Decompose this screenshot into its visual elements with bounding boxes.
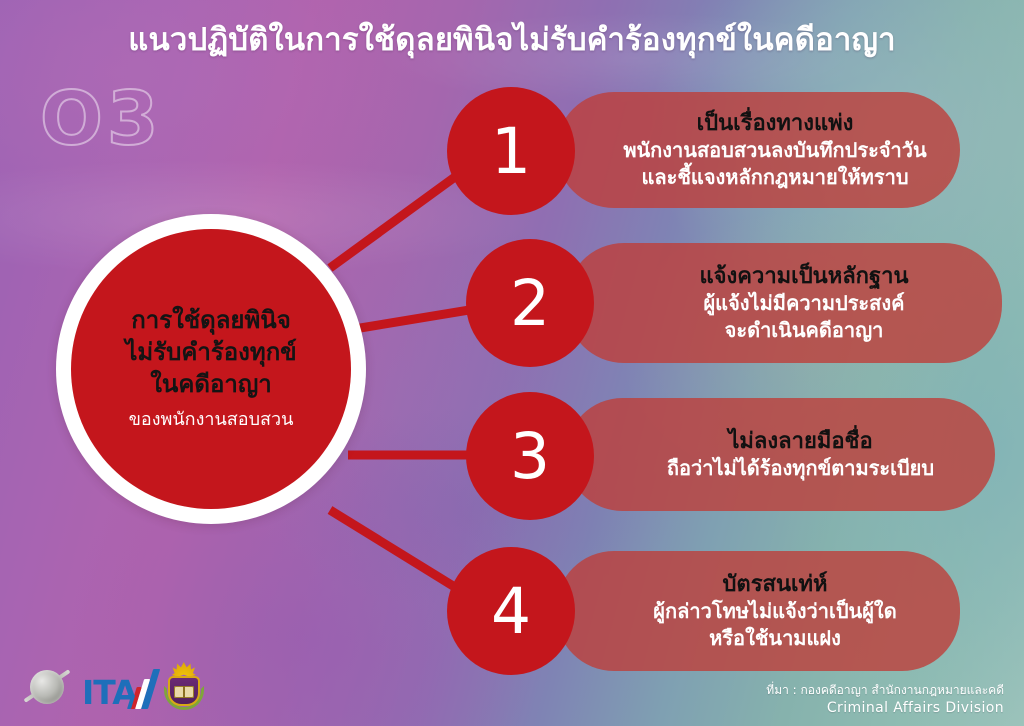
- item-1-heading: เป็นเรื่องทางแพ่ง: [697, 110, 854, 138]
- central-hub: การใช้ดุลยพินิจ ไม่รับคำร้องทุกข์ ในคดีอ…: [56, 214, 366, 524]
- source-thai: ที่มา : กองคดีอาญา สำนักงานกฎหมายและคดี: [766, 682, 1004, 699]
- item-4-heading: บัตรสนเท่ห์: [722, 571, 827, 599]
- item-3-pill: ไม่ลงลายมือชื่อ ถือว่าไม่ได้ร้องทุกข์ตาม…: [566, 398, 995, 511]
- hub-subtitle: ของพนักงานสอบสวน: [129, 407, 294, 432]
- item-2-body-line-1: ผู้แจ้งไม่มีความประสงค์: [703, 290, 904, 316]
- item-4-pill: บัตรสนเท่ห์ ผู้กล่าวโทษไม่แจ้งว่าเป็นผู้…: [556, 551, 960, 671]
- item-4-body-line-2: หรือใช้นามแฝง: [709, 625, 841, 651]
- hub-line-3: ในคดีอาญา: [150, 369, 272, 401]
- ita-logo: ITA: [82, 665, 153, 709]
- thai-flag-icon: [127, 669, 153, 709]
- item-2-badge: 2: [466, 239, 594, 367]
- item-1-badge: 1: [447, 87, 575, 215]
- crest-book-spine: [183, 686, 185, 698]
- source-attribution: ที่มา : กองคดีอาญา สำนักงานกฎหมายและคดี …: [766, 682, 1004, 718]
- item-4-number: 4: [491, 580, 531, 643]
- central-hub-inner: การใช้ดุลยพินิจ ไม่รับคำร้องทุกข์ ในคดีอ…: [71, 229, 351, 509]
- hub-line-1: การใช้ดุลยพินิจ: [131, 305, 291, 337]
- item-3-badge: 3: [466, 392, 594, 520]
- police-seal-icon: [22, 662, 72, 712]
- item-1-body-line-2: และชี้แจงหลักกฎหมายให้ทราบ: [641, 164, 908, 190]
- item-3-body-line-1: ถือว่าไม่ได้ร้องทุกข์ตามระเบียบ: [667, 455, 934, 481]
- item-3-heading: ไม่ลงลายมือชื่อ: [728, 428, 872, 456]
- item-3-number: 3: [510, 425, 550, 488]
- infographic-stage: แนวปฏิบัติในการใช้ดุลยพินิจไม่รับคำร้องท…: [0, 0, 1024, 726]
- seal-ball: [30, 670, 64, 704]
- source-english: Criminal Affairs Division: [766, 699, 1004, 718]
- item-4-badge: 4: [447, 547, 575, 675]
- item-2-pill: แจ้งความเป็นหลักฐาน ผู้แจ้งไม่มีความประส…: [566, 243, 1002, 363]
- royal-police-crest-icon: [163, 662, 205, 712]
- item-1-body-line-1: พนักงานสอบสวนลงบันทึกประจำวัน: [623, 137, 926, 163]
- item-2-heading: แจ้งความเป็นหลักฐาน: [699, 263, 908, 291]
- hub-line-2: ไม่รับคำร้องทุกข์: [125, 337, 296, 369]
- item-2-number: 2: [510, 272, 550, 335]
- footer-logos: ITA: [22, 662, 205, 712]
- item-1-pill: เป็นเรื่องทางแพ่ง พนักงานสอบสวนลงบันทึกป…: [556, 92, 960, 208]
- item-4-body-line-1: ผู้กล่าวโทษไม่แจ้งว่าเป็นผู้ใด: [653, 598, 896, 624]
- item-1-number: 1: [491, 120, 531, 183]
- item-2-body-line-2: จะดำเนินคดีอาญา: [725, 317, 884, 343]
